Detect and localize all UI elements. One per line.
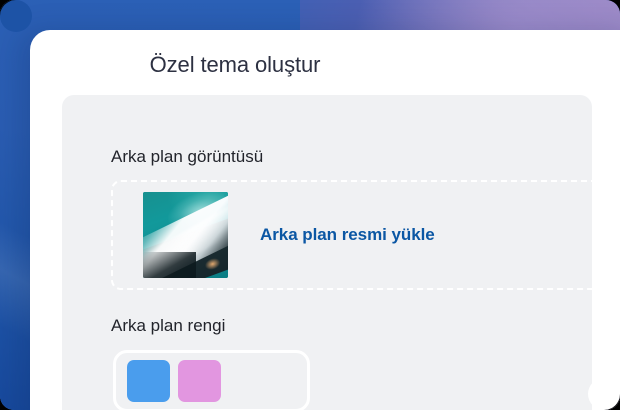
background-color-swatch-group[interactable] [113, 350, 310, 410]
screenshot-corner-mask-top-left [0, 0, 16, 16]
upload-background-image-link[interactable]: Arka plan resmi yükle [260, 225, 435, 245]
blue-swatch[interactable] [127, 360, 170, 402]
page-title: Özel tema oluştur [30, 50, 440, 80]
create-custom-theme-dialog: Özel tema oluştur Arka plan görüntüsü Ar… [30, 30, 620, 410]
screenshot-corner-mask-bottom-right [604, 394, 620, 410]
screenshot-root: Özel tema oluştur Arka plan görüntüsü Ar… [0, 0, 620, 410]
background-color-label: Arka plan rengi [111, 316, 225, 336]
background-image-dropzone[interactable]: Arka plan resmi yükle [111, 180, 603, 290]
theme-settings-panel: Arka plan görüntüsü Arka plan resmi yükl… [62, 95, 592, 410]
ocean-aerial-thumbnail[interactable] [143, 192, 228, 278]
background-image-label: Arka plan görüntüsü [111, 147, 263, 167]
thumbnail-dark-rock-corner [143, 252, 196, 278]
pink-swatch[interactable] [178, 360, 221, 402]
